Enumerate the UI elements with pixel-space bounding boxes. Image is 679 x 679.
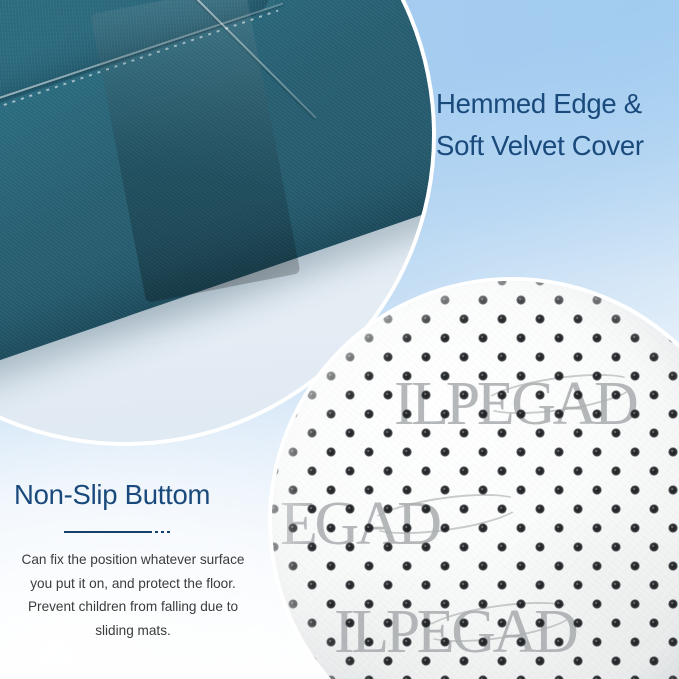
divider-dotted-tail (155, 531, 171, 533)
divider-solid-line (64, 531, 152, 533)
title-divider (6, 525, 260, 539)
feature-title-non-slip: Non-Slip Buttom (6, 478, 260, 511)
description-line-1: Can fix the position whatever surface (6, 548, 260, 572)
feature-description-non-slip: Can fix the position whatever surface yo… (6, 548, 260, 643)
description-line-3: Prevent children from falling due to (6, 595, 260, 619)
non-slip-backing-photo: ILPEGAD EGAD ILPEGAD (272, 281, 679, 679)
description-line-2: you put it on, and protect the floor. (6, 572, 260, 596)
product-feature-graphic: ILPEGAD EGAD ILPEGAD Hemmed Edge & Soft … (0, 0, 679, 679)
heading-line-2: Soft Velvet Cover (436, 125, 679, 167)
heading-line-1: Hemmed Edge & (436, 83, 679, 125)
description-line-4: sliding mats. (6, 619, 260, 643)
feature-block-non-slip: Non-Slip Buttom Can fix the position wha… (6, 478, 260, 643)
feature-heading-hemmed-edge: Hemmed Edge & Soft Velvet Cover (436, 83, 679, 167)
